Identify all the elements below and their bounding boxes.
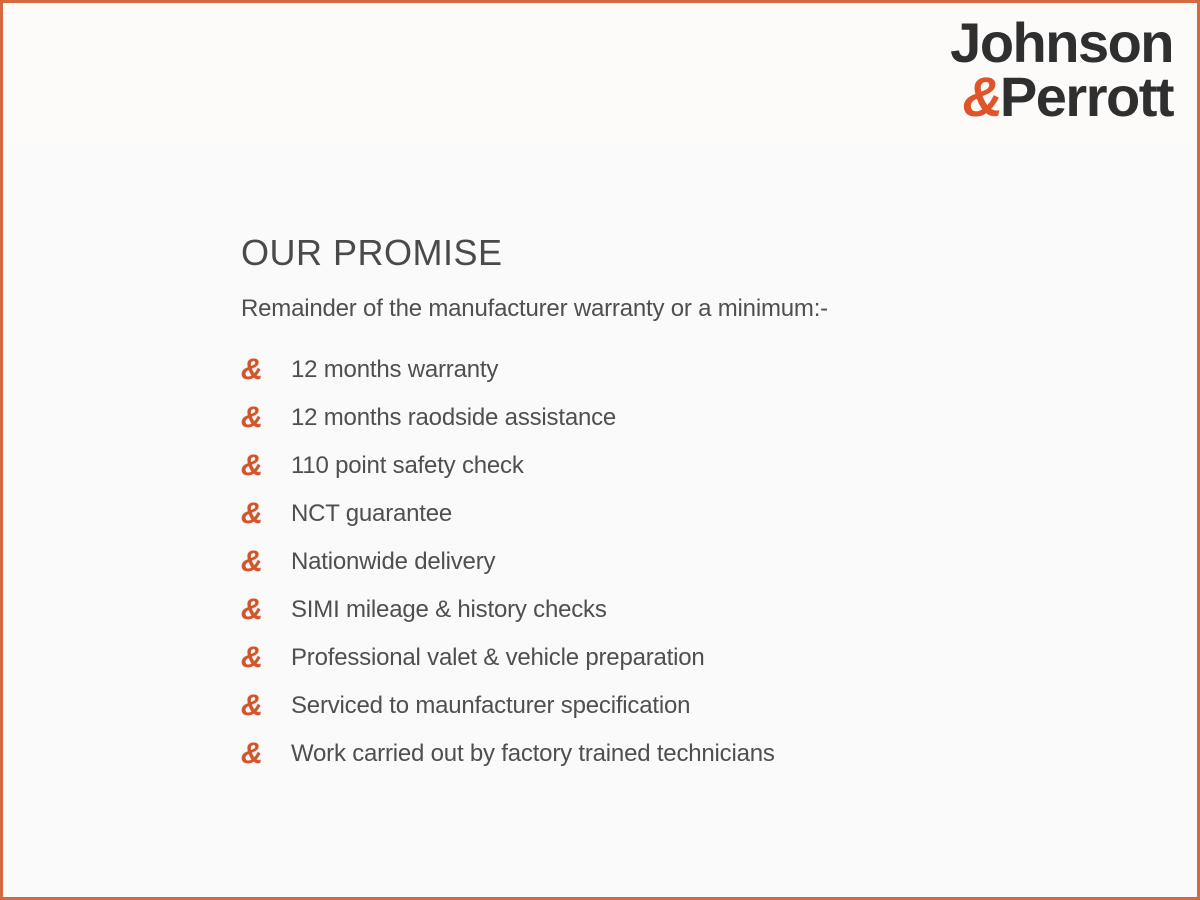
- ampersand-bullet-icon: &: [241, 499, 291, 529]
- list-item-label: NCT guarantee: [291, 500, 452, 529]
- list-item: & Nationwide delivery: [241, 545, 1137, 579]
- content-inner: OUR PROMISE Remainder of the manufacture…: [241, 233, 1137, 785]
- list-item: & 12 months warranty: [241, 353, 1137, 387]
- promise-list: & 12 months warranty & 12 months raodsid…: [241, 353, 1137, 771]
- promise-subtitle: Remainder of the manufacturer warranty o…: [241, 295, 1137, 324]
- list-item: & Serviced to maunfacturer specification: [241, 689, 1137, 723]
- list-item-label: Nationwide delivery: [291, 548, 495, 577]
- list-item-label: Work carried out by factory trained tech…: [291, 740, 775, 769]
- list-item-label: SIMI mileage & history checks: [291, 596, 607, 625]
- content-area: OUR PROMISE Remainder of the manufacture…: [3, 143, 1197, 897]
- list-item: & SIMI mileage & history checks: [241, 593, 1137, 627]
- ampersand-bullet-icon: &: [241, 691, 291, 721]
- page-title: OUR PROMISE: [241, 233, 1137, 273]
- list-item-label: 12 months warranty: [291, 356, 498, 385]
- logo-johnson: Johnson: [950, 17, 1173, 69]
- list-item: & Work carried out by factory trained te…: [241, 737, 1137, 771]
- ampersand-bullet-icon: &: [241, 403, 291, 433]
- ampersand-bullet-icon: &: [241, 739, 291, 769]
- list-item: & NCT guarantee: [241, 497, 1137, 531]
- list-item-label: Professional valet & vehicle preparation: [291, 644, 705, 673]
- list-item-label: 110 point safety check: [291, 452, 524, 481]
- promise-slide: Johnson &Perrott OUR PROMISE Remainder o…: [0, 0, 1200, 900]
- ampersand-bullet-icon: &: [241, 355, 291, 385]
- logo-perrott: Perrott: [1000, 65, 1173, 128]
- list-item: & 110 point safety check: [241, 449, 1137, 483]
- list-item-label: 12 months raodside assistance: [291, 404, 616, 433]
- ampersand-bullet-icon: &: [241, 547, 291, 577]
- logo-perrott-line: &Perrott: [950, 71, 1173, 123]
- ampersand-bullet-icon: &: [241, 643, 291, 673]
- list-item: & Professional valet & vehicle preparati…: [241, 641, 1137, 675]
- brand-logo: Johnson &Perrott: [950, 17, 1173, 122]
- list-item-label: Serviced to maunfacturer specification: [291, 692, 690, 721]
- ampersand-bullet-icon: &: [241, 595, 291, 625]
- ampersand-bullet-icon: &: [241, 451, 291, 481]
- header-top-highlight: [3, 5, 1197, 9]
- logo-ampersand-icon: &: [962, 65, 999, 128]
- list-item: & 12 months raodside assistance: [241, 401, 1137, 435]
